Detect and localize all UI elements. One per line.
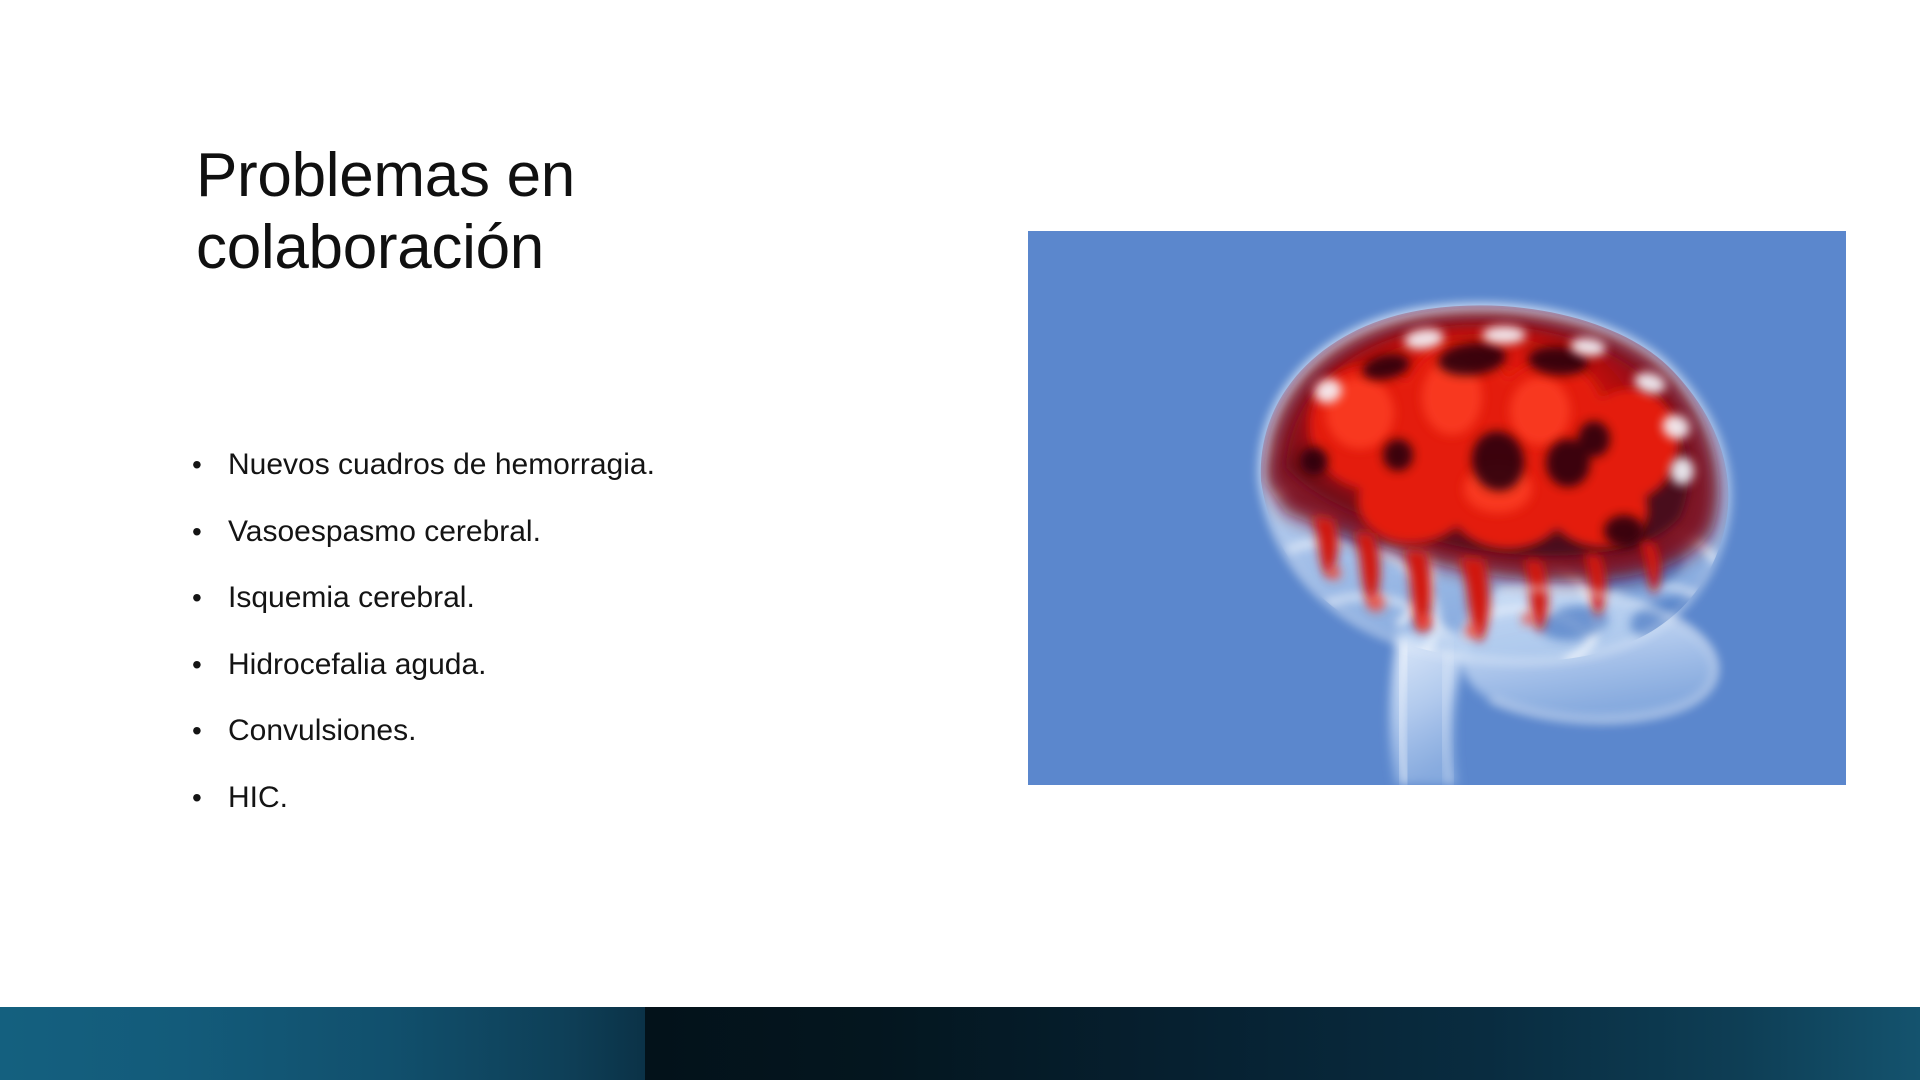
list-item-label: Vasoespasmo cerebral. xyxy=(228,515,892,549)
page-title: Problemas en colaboración xyxy=(196,140,796,284)
bullet-dot-icon: • xyxy=(192,784,228,812)
list-item-label: HIC. xyxy=(228,781,892,815)
bullet-list: • Nuevos cuadros de hemorragia. • Vasoes… xyxy=(192,448,892,848)
list-item: • Hidrocefalia aguda. xyxy=(192,648,892,682)
list-item: • Nuevos cuadros de hemorragia. xyxy=(192,448,892,482)
bullet-dot-icon: • xyxy=(192,584,228,612)
gradient-bar-left-segment xyxy=(0,1007,645,1080)
gradient-bar-right-segment xyxy=(645,1007,1920,1080)
slide-canvas: Problemas en colaboración • Nuevos cuadr… xyxy=(0,0,1920,1080)
list-item: • Vasoespasmo cerebral. xyxy=(192,515,892,549)
list-item-label: Isquemia cerebral. xyxy=(228,581,892,615)
brain-hemorrhage-illustration xyxy=(1028,231,1846,785)
bullet-dot-icon: • xyxy=(192,451,228,479)
list-item-label: Nuevos cuadros de hemorragia. xyxy=(228,448,892,482)
list-item-label: Convulsiones. xyxy=(228,714,892,748)
list-item: • Isquemia cerebral. xyxy=(192,581,892,615)
bullet-dot-icon: • xyxy=(192,717,228,745)
title-block: Problemas en colaboración xyxy=(196,140,796,284)
decorative-gradient-bar xyxy=(0,1007,1920,1080)
list-item: • HIC. xyxy=(192,781,892,815)
list-item: • Convulsiones. xyxy=(192,714,892,748)
bullet-dot-icon: • xyxy=(192,651,228,679)
bullet-dot-icon: • xyxy=(192,518,228,546)
list-item-label: Hidrocefalia aguda. xyxy=(228,648,892,682)
